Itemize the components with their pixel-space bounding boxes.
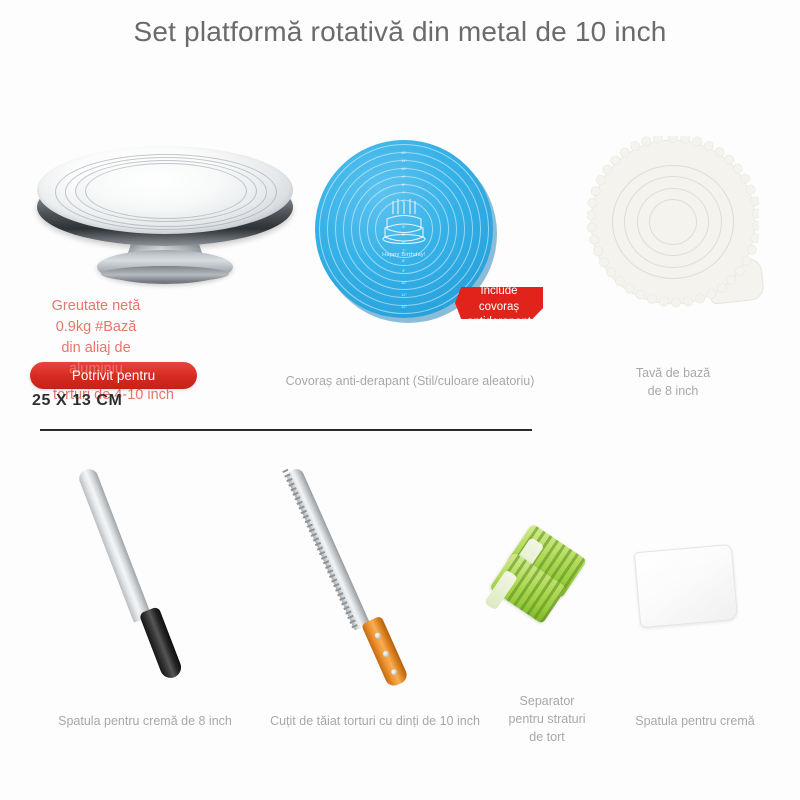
scraper-caption: Spatula pentru cremă xyxy=(615,712,775,730)
knife-rivet xyxy=(374,632,382,640)
separator-caption: Separator pentru straturi de tort xyxy=(487,692,607,746)
mat-size-tick: 10" xyxy=(401,166,407,171)
knife-handle xyxy=(361,616,410,689)
cream-scraper-image xyxy=(637,548,741,634)
knife-caption: Cuțit de tăiat torturi cu dinți de 10 in… xyxy=(250,712,500,730)
base-cake-board-image xyxy=(587,136,767,322)
cake-turntable-image xyxy=(35,140,295,300)
spatula-handle xyxy=(139,606,184,681)
mat-size-tick: 7" xyxy=(402,190,406,195)
mat-size-tick: 11" xyxy=(401,158,407,163)
mat-caption: Covoraș anti-derapant (Stil/culoare alea… xyxy=(240,372,580,390)
spatula-caption: Spatula pentru cremă de 8 inch xyxy=(20,712,270,730)
serrated-knife-image xyxy=(262,462,462,682)
knife-rivet xyxy=(390,668,398,676)
scraper-body xyxy=(634,544,738,628)
knife-serration xyxy=(282,469,357,629)
mat-size-tick: 6" xyxy=(402,240,406,245)
mat-size-tick: 10" xyxy=(401,280,407,285)
turntable-ring xyxy=(85,163,247,219)
mat-size-tick: 6" xyxy=(402,198,406,203)
board-caption: Tavă de bază de 8 inch xyxy=(583,364,763,400)
mat-size-tick: 5" xyxy=(402,232,406,237)
mat-size-tick: 4" xyxy=(402,224,406,229)
mat-size-tick: 9" xyxy=(402,268,406,273)
mat-size-tick: 8" xyxy=(402,182,406,187)
mat-size-tick: 9" xyxy=(402,174,406,179)
fits-cakes-badge-label: Potrivit pentru xyxy=(30,367,197,385)
mat-size-tick: 12" xyxy=(401,150,407,155)
birthday-cake-icon xyxy=(373,199,435,245)
product-infographic: Set platformă rotativă din metal de 10 i… xyxy=(0,0,800,800)
mat-size-tick: 11" xyxy=(401,292,407,297)
section-divider xyxy=(40,429,532,431)
page-title: Set platformă rotativă din metal de 10 i… xyxy=(0,14,800,50)
spatula-blade xyxy=(77,467,152,623)
board-ring xyxy=(649,199,697,245)
mat-size-tick: 8" xyxy=(402,258,406,263)
turntable-foot-rim xyxy=(101,266,229,282)
turntable-dimensions: 25 X 13 CM xyxy=(32,392,122,410)
mat-size-tick: 12" xyxy=(401,304,407,309)
knife-rivet xyxy=(382,650,390,658)
cake-layer-separator-image xyxy=(492,536,604,648)
mat-size-tick: 7" xyxy=(402,248,406,253)
cream-spatula-image xyxy=(58,462,248,672)
includes-mat-badge-label: Include covoraș antiderapant xyxy=(455,284,543,331)
